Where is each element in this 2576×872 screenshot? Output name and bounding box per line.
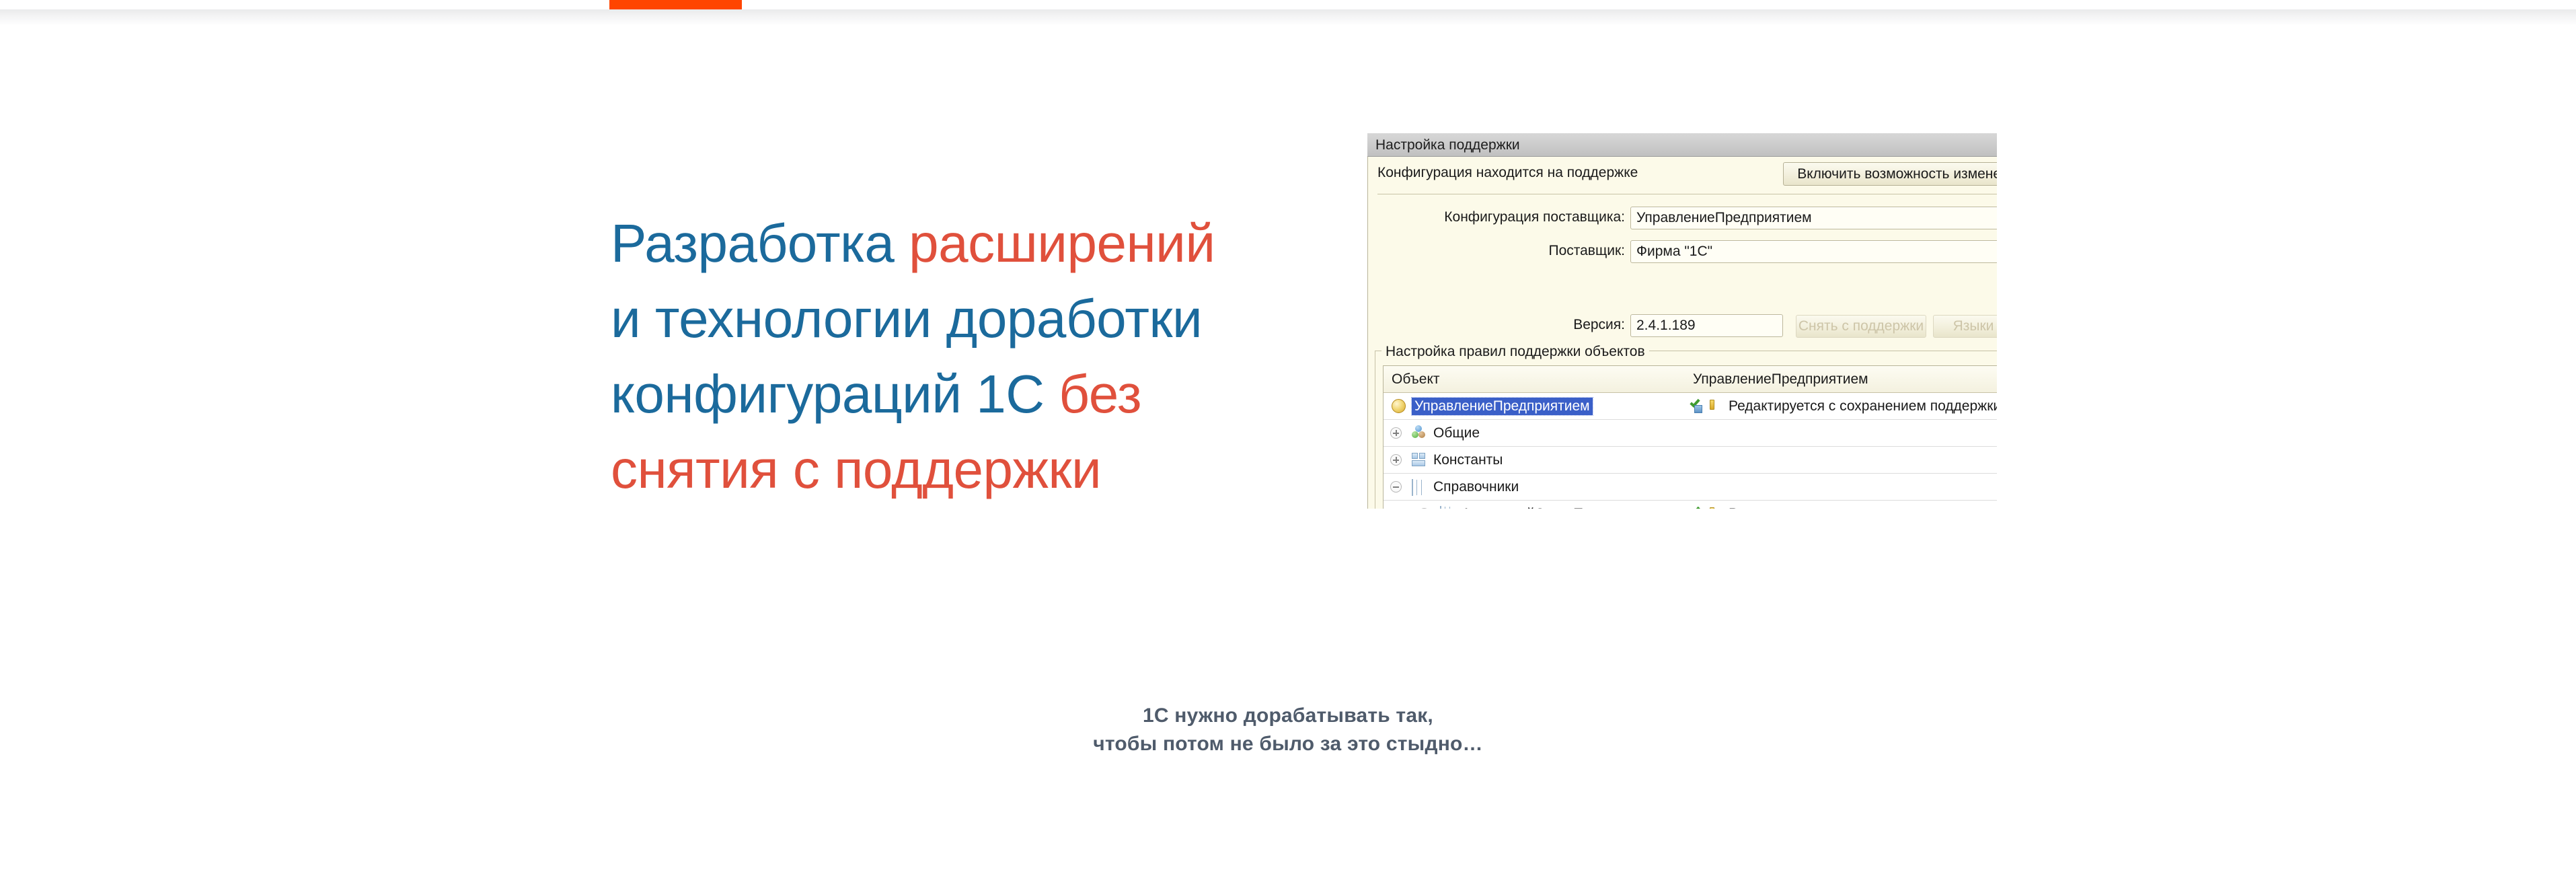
config-icon [1392, 399, 1406, 413]
supplier-input[interactable]: Фирма "1С" [1630, 240, 1997, 263]
expand-icon[interactable] [1390, 427, 1402, 439]
table-row[interactable]: УправлениеПредприятием Редактируется с с… [1384, 393, 1997, 420]
remove-support-button[interactable]: Снять с поддержки [1796, 315, 1926, 338]
enable-modification-button[interactable]: Включить возможность изменения [1783, 162, 1997, 186]
languages-button[interactable]: Языки [1933, 315, 1997, 338]
tree-node-label[interactable]: Константы [1433, 452, 1503, 468]
version-label: Версия: [1573, 317, 1625, 333]
dialog-titlebar: Настройка поддержки [1367, 133, 1997, 157]
support-status-label: Редактируется с сохранением поддержки [1729, 398, 1997, 414]
hero-line-2: и технологии доработки [611, 281, 1324, 357]
pencil-icon [1710, 400, 1714, 410]
table-header: Объект УправлениеПредприятием [1384, 366, 1997, 393]
divider [1377, 194, 1997, 194]
column-header-config: УправлениеПредприятием [1693, 371, 1868, 388]
supplier-config-input[interactable]: УправлениеПредприятием [1630, 207, 1997, 229]
tagline: 1С нужно дорабатывать так, чтобы потом н… [0, 702, 2576, 758]
table-row[interactable]: Справочники [1384, 474, 1997, 501]
page-root: Разработка расширений и технологии дораб… [0, 0, 2576, 872]
support-status-text: Конфигурация находится на поддержке [1377, 165, 1638, 181]
hero-line-2-blue: и технологии доработки [611, 289, 1202, 349]
collapse-icon[interactable] [1390, 481, 1402, 493]
expand-icon[interactable] [1390, 454, 1402, 466]
orange-tab-indicator [609, 0, 742, 9]
hero-line-3-blue: конфигураций 1С [611, 364, 1059, 424]
tagline-line-1: 1С нужно дорабатывать так, [0, 702, 2576, 730]
support-settings-screenshot: Настройка поддержки Конфигурация находит… [1367, 133, 1997, 509]
hero-line-1-blue: Разработка [611, 213, 909, 273]
table-row[interactable]: Общие [1384, 420, 1997, 447]
tree-node-label[interactable]: Общие [1433, 425, 1480, 441]
supplier-label: Поставщик: [1548, 243, 1625, 259]
table-row[interactable]: АвансовыйОтчетПри… Редактируется с сохра… [1384, 501, 1997, 509]
tree-node-label[interactable]: УправлениеПредприятием [1412, 398, 1593, 415]
header-gradient-band [0, 9, 2576, 26]
dialog-title: Настройка поддержки [1375, 137, 1520, 153]
hero-line-1: Разработка расширений [611, 206, 1324, 281]
tree-node-label[interactable]: Справочники [1433, 479, 1519, 495]
objects-tree-table[interactable]: Объект УправлениеПредприятием Управление… [1383, 365, 1997, 509]
version-input[interactable]: 2.4.1.189 [1630, 314, 1783, 337]
hero-line-3-red: без [1059, 364, 1141, 424]
hero-line-3: конфигураций 1С без [611, 357, 1324, 432]
hero-line-4: снятия с поддержки [611, 432, 1324, 507]
hero-line-4-red: снятия с поддержки [611, 439, 1101, 499]
supplier-config-label: Конфигурация поставщика: [1444, 209, 1625, 225]
column-header-object: Объект [1392, 371, 1440, 388]
pencil-icon [1710, 507, 1714, 509]
dialog-body: Конфигурация находится на поддержке Вклю… [1367, 157, 1997, 509]
catalog-icon [1412, 479, 1413, 496]
hero-line-1-red: расширений [909, 213, 1215, 273]
tree-node-label[interactable]: АвансовыйОтчетПри… [1462, 506, 1614, 509]
tagline-line-2: чтобы потом не было за это стыдно… [0, 730, 2576, 758]
catalog-icon [1440, 506, 1441, 509]
check-icon [1690, 399, 1704, 414]
table-row[interactable]: Константы [1384, 447, 1997, 474]
expand-icon[interactable] [1418, 508, 1430, 509]
support-status-label: Редактируется с сохранением поддержки [1729, 506, 1997, 509]
check-icon [1690, 507, 1704, 509]
hero-headline: Разработка расширений и технологии дораб… [611, 206, 1324, 507]
